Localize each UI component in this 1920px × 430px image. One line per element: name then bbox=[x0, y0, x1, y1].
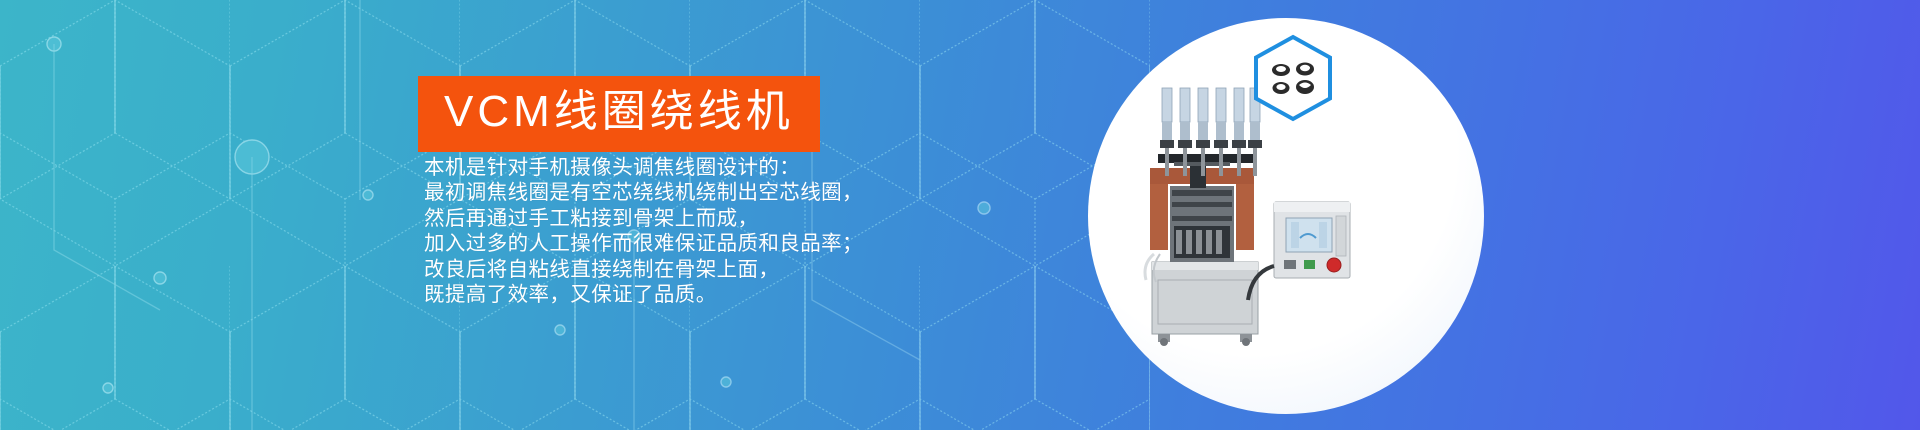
coil-samples-hexagon-badge bbox=[1252, 34, 1334, 122]
description-line-4: 加入过多的人工操作而很难保证品质和良品率； bbox=[424, 231, 944, 256]
description-line-3: 然后再通过手工粘接到骨架上而成， bbox=[424, 206, 944, 231]
banner-title-block: VCM线圈绕线机 bbox=[418, 76, 820, 152]
product-banner: VCM线圈绕线机 本机是针对手机摄像头调焦线圈设计的： 最初调焦线圈是有空芯绕线… bbox=[0, 0, 1920, 430]
banner-description: 本机是针对手机摄像头调焦线圈设计的： 最初调焦线圈是有空芯绕线机绕制出空芯线圈，… bbox=[424, 155, 944, 307]
description-line-1: 本机是针对手机摄像头调焦线圈设计的： bbox=[424, 155, 944, 180]
page-title: VCM线圈绕线机 bbox=[444, 83, 794, 141]
description-line-6: 既提高了效率，又保证了品质。 bbox=[424, 282, 944, 307]
description-line-5: 改良后将自粘线直接绕制在骨架上面， bbox=[424, 257, 944, 282]
description-line-2: 最初调焦线圈是有空芯绕线机绕制出空芯线圈， bbox=[424, 180, 944, 205]
